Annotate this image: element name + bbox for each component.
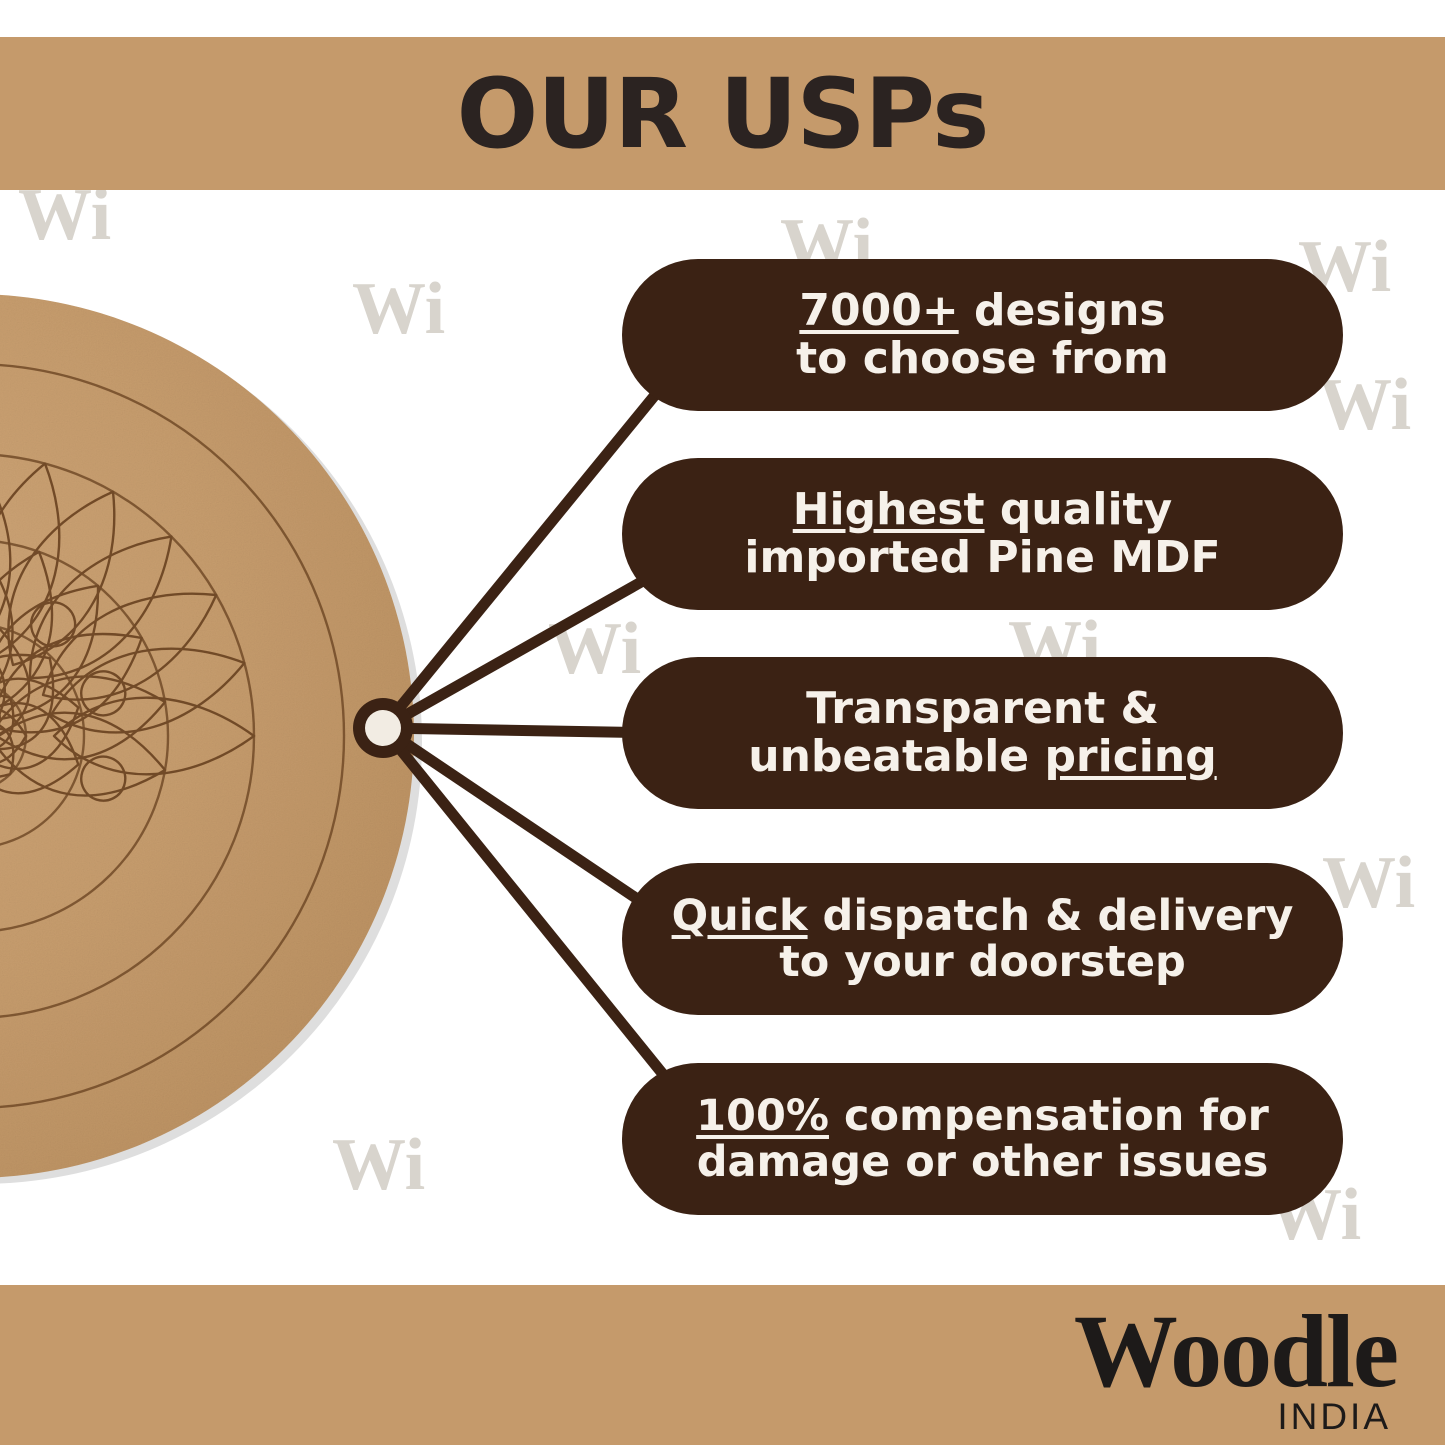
usp-pill-5-line-1: 100% compensation for	[696, 1093, 1269, 1139]
usp-pill-3-line-1: Transparent &	[806, 685, 1159, 733]
infographic-canvas: WiWiWiWiWiWiWiWiWiWi	[0, 0, 1445, 1445]
usp-text: imported Pine MDF	[744, 532, 1220, 583]
brand-logo: Woodle INDIA	[1074, 1300, 1397, 1435]
usp-text: to choose from	[796, 333, 1169, 384]
usp-text: quality	[985, 484, 1173, 535]
usp-pill-2-line-1: Highest quality	[793, 486, 1173, 534]
usp-pill-2-line-2: imported Pine MDF	[744, 534, 1220, 582]
usp-pill-4: Quick dispatch & deliveryto your doorste…	[622, 863, 1343, 1015]
usp-text: dispatch & delivery	[808, 891, 1294, 941]
usp-text: designs	[959, 285, 1166, 336]
usp-text: Transparent &	[806, 683, 1159, 734]
usp-text: damage or other issues	[697, 1137, 1269, 1187]
usp-highlight: Quick	[672, 891, 808, 941]
usp-pill-5-line-2: damage or other issues	[697, 1139, 1269, 1185]
usp-pill-3: Transparent &unbeatable pricing	[622, 657, 1343, 809]
usp-pill-4-line-1: Quick dispatch & delivery	[672, 893, 1294, 939]
usp-pill-1-line-2: to choose from	[796, 335, 1169, 383]
usp-text: compensation for	[829, 1091, 1269, 1141]
usp-highlight: 100%	[696, 1091, 829, 1141]
usp-pill-3-line-2: unbeatable pricing	[748, 733, 1216, 781]
usp-highlight: Highest	[793, 484, 985, 535]
usp-pill-2: Highest qualityimported Pine MDF	[622, 458, 1343, 610]
usp-text: unbeatable	[748, 731, 1044, 782]
brand-logo-word: Woodle	[1074, 1300, 1397, 1404]
usp-text: to your doorstep	[779, 937, 1186, 987]
usp-highlight: 7000+	[799, 285, 958, 336]
usp-pill-4-line-2: to your doorstep	[779, 939, 1186, 985]
usp-highlight: pricing	[1044, 731, 1216, 782]
usp-pill-5: 100% compensation fordamage or other iss…	[622, 1063, 1343, 1215]
usp-list: 7000+ designsto choose fromHighest quali…	[0, 0, 1445, 1445]
page-title: OUR USPs	[0, 37, 1445, 190]
usp-pill-1-line-1: 7000+ designs	[799, 287, 1165, 335]
usp-pill-1: 7000+ designsto choose from	[622, 259, 1343, 411]
